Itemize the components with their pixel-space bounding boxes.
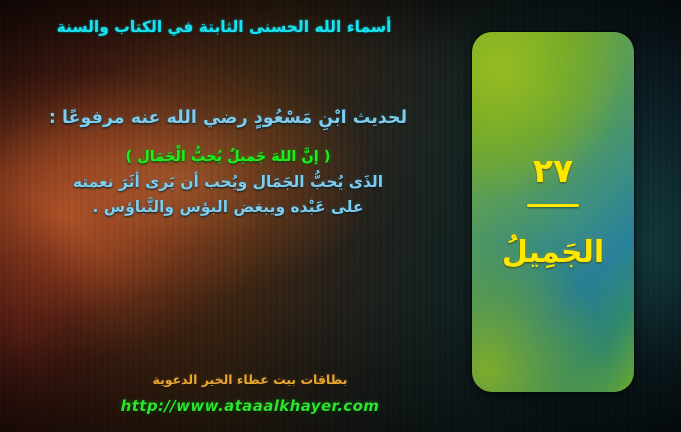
- card-divider: [527, 204, 579, 207]
- card-canvas: أسماء الله الحسنى الثابتة في الكتاب والس…: [0, 0, 681, 432]
- footer-website-url[interactable]: http://www.ataaalkhayer.com: [0, 397, 500, 415]
- hadith-intro-line: لحديث ابْنِ مَسْعُودٍ رضي الله عنه مرفوع…: [14, 104, 442, 133]
- divine-name-card: ٢٧ الجَمِيلُ: [472, 32, 634, 392]
- hadith-body-line-2: على عَبْده ويبغض البؤس والتَّباؤس .: [14, 195, 442, 220]
- footer-publisher-label: بطاقات بيت عطاء الخير الدعوية: [0, 372, 500, 387]
- hadith-block: لحديث ابْنِ مَسْعُودٍ رضي الله عنه مرفوع…: [14, 104, 442, 220]
- page-title: أسماء الله الحسنى الثابتة في الكتاب والس…: [0, 18, 448, 36]
- card-divine-name: الجَمِيلُ: [472, 234, 634, 272]
- card-number: ٢٧: [472, 154, 634, 187]
- card-grain-texture: [472, 32, 634, 392]
- hadith-quote-line: ( إنَّ اللهَ جَميلٌ يُحبُّ الْجَمَال ): [14, 149, 442, 165]
- hadith-body-line-1: الذَى يُحبُّ الجَمَال ويُحب أن يَرى أثَر…: [14, 170, 442, 195]
